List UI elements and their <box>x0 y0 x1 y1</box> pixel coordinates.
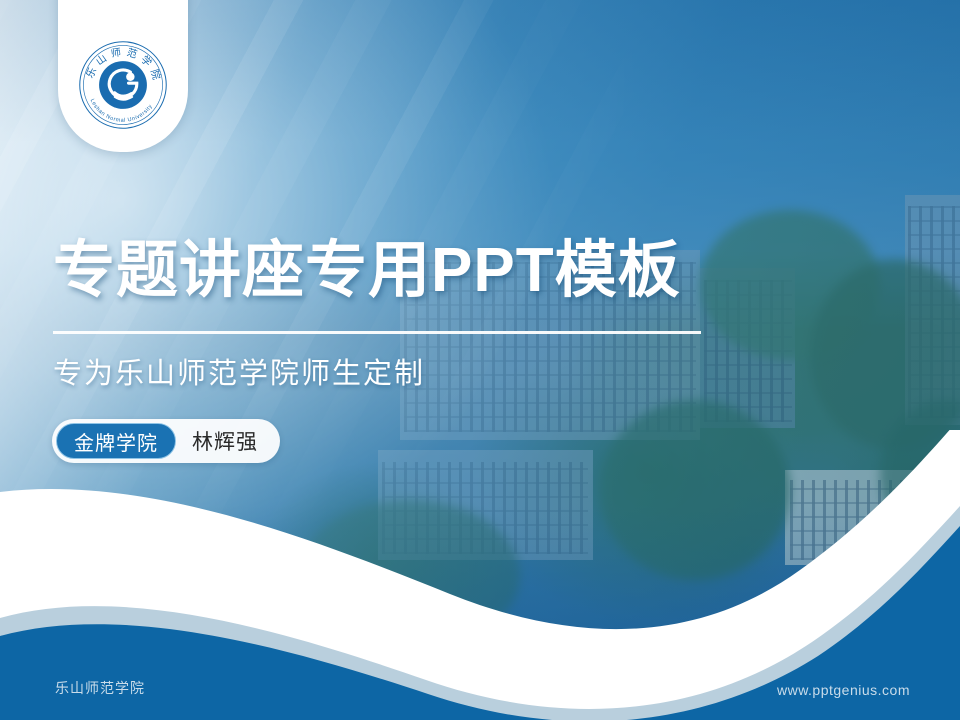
page-title: 专题讲座专用PPT模板 <box>53 238 681 303</box>
presentation-title-slide: 乐山师范学院 Leshan Normal University 专题讲座专用PP… <box>0 0 960 720</box>
footer-website-label[interactable]: www.pptgenius.com <box>777 682 910 698</box>
footer-institution-label: 乐山师范学院 <box>55 678 145 698</box>
title-divider <box>53 331 701 334</box>
university-seal-icon: 乐山师范学院 Leshan Normal University <box>77 39 169 131</box>
page-subtitle: 专为乐山师范学院师生定制 <box>53 350 425 392</box>
decorative-wave-shapes <box>0 430 960 720</box>
logo-card: 乐山师范学院 Leshan Normal University <box>58 0 188 152</box>
